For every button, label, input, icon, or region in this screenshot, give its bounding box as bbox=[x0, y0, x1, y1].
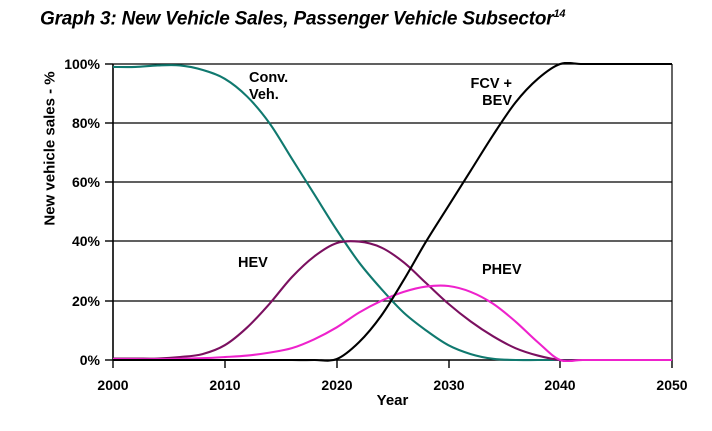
series-label-conventional-vehicles: Conv. Veh. bbox=[249, 70, 288, 104]
axis-frame bbox=[113, 64, 672, 360]
grid-lines bbox=[113, 64, 672, 360]
x-tick-2040: 2040 bbox=[530, 377, 590, 393]
series-label-hev: HEV bbox=[238, 255, 268, 272]
chart-figure: Graph 3: New Vehicle Sales, Passenger Ve… bbox=[0, 0, 712, 431]
y-axis-title: New vehicle sales - % bbox=[42, 39, 59, 259]
series-label-conv-line2: Veh. bbox=[249, 87, 288, 104]
x-tick-2030: 2030 bbox=[419, 377, 479, 393]
series-label-conv-line1: Conv. bbox=[249, 70, 288, 87]
y-tick-marks bbox=[105, 64, 113, 360]
series-label-fcv-bev: FCV + BEV bbox=[440, 76, 512, 110]
y-tick-0: 0% bbox=[44, 352, 100, 368]
x-tick-2050: 2050 bbox=[642, 377, 702, 393]
data-series-group bbox=[113, 63, 672, 361]
series-line-conv-veh bbox=[113, 65, 672, 360]
y-tick-20: 20% bbox=[44, 293, 100, 309]
plot-canvas bbox=[0, 0, 712, 431]
series-label-fcv-line2: BEV bbox=[440, 93, 512, 110]
x-tick-2000: 2000 bbox=[83, 377, 143, 393]
x-tick-2010: 2010 bbox=[195, 377, 255, 393]
series-line-fcv-bev bbox=[113, 63, 672, 361]
series-label-fcv-line1: FCV + bbox=[440, 76, 512, 93]
x-tick-marks bbox=[113, 360, 672, 368]
series-label-phev: PHEV bbox=[482, 262, 522, 279]
x-axis-title: Year bbox=[113, 392, 672, 409]
x-tick-2020: 2020 bbox=[307, 377, 367, 393]
